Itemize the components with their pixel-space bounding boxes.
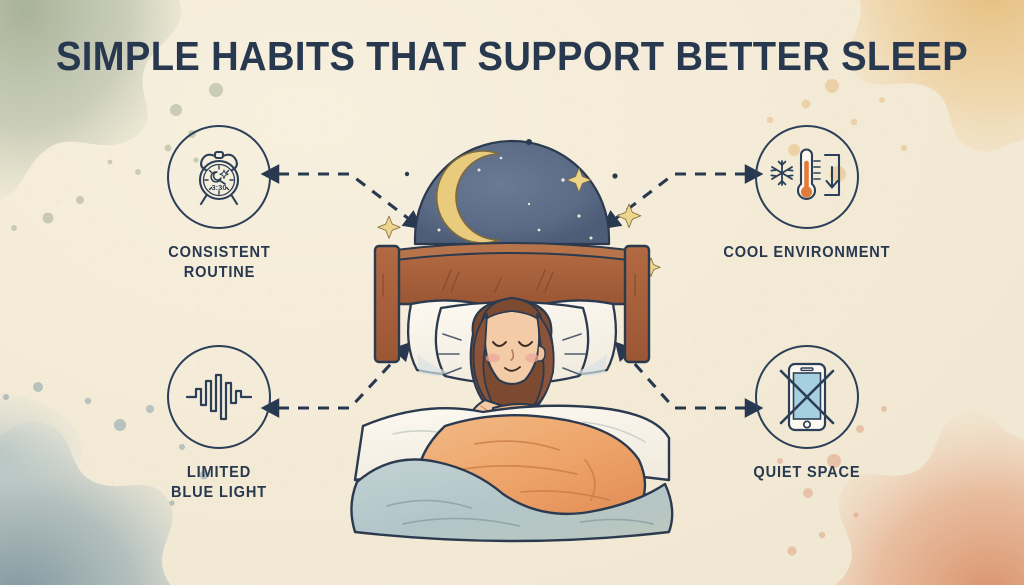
phone-crossed-out-icon [776,361,838,433]
habit-label-line-1: QUIET SPACE [753,464,860,481]
habit-icon-ring-cool [755,125,859,229]
habit-limited-blue-light[interactable]: LIMITED BLUE LIGHT [124,345,314,504]
alarm-clock-time-text: 3:30 [211,183,226,192]
habit-label-line-1: LIMITED [187,464,251,481]
habit-label-line-1: COOL ENVIRONMENT [723,244,890,261]
habit-label-cool: COOL ENVIRONMENT [723,243,890,263]
page-title: SIMPLE HABITS THAT SUPPORT BETTER SLEEP [36,33,988,80]
habit-consistent-routine[interactable]: 3:30 CONSISTENT ROUTINE [124,125,314,284]
habit-icon-ring-routine: 3:30 [167,125,271,229]
face [485,306,539,384]
sleeping-woman-illustration [333,108,691,548]
habit-label-bluelight: LIMITED BLUE LIGHT [171,463,267,504]
bed-post-right [625,246,649,362]
habit-quiet-space[interactable]: QUIET SPACE [712,345,902,483]
snowflake-icon [771,161,792,185]
habit-label-line-2: BLUE LIGHT [171,484,267,501]
arrow-down-icon [825,155,839,195]
alarm-clock-icon: 3:30 [186,144,252,210]
sleep-habits-infographic: SIMPLE HABITS THAT SUPPORT BETTER SLEEP [0,0,1024,585]
habit-label-routine: CONSISTENT ROUTINE [168,243,270,284]
sound-wave-icon [184,371,254,423]
habit-cool-environment[interactable]: COOL ENVIRONMENT [712,125,902,263]
thermometer-snowflake-icon [769,147,845,207]
habit-icon-ring-bluelight [167,345,271,449]
headboard-panel [395,250,629,304]
thermometer-icon [798,150,820,199]
bed-post-left [375,246,399,362]
ear [538,346,545,361]
habit-label-line-2: ROUTINE [183,264,254,281]
habit-label-quiet: QUIET SPACE [753,463,860,483]
habit-label-line-1: CONSISTENT [168,244,270,261]
habit-icon-ring-quiet [755,345,859,449]
